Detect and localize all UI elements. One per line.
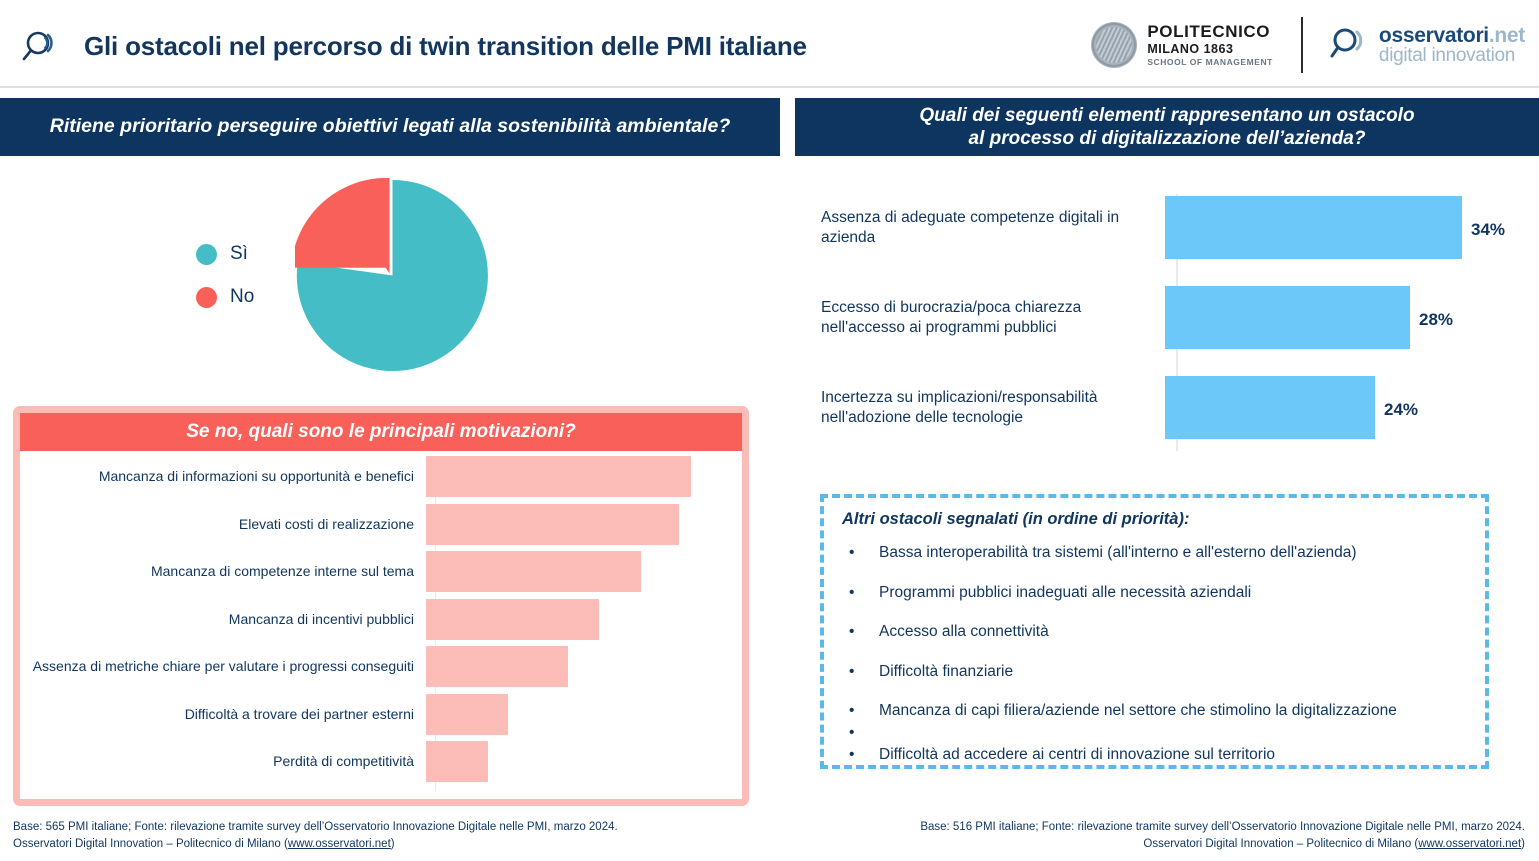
bullet-icon: • [842,584,879,603]
bullet-icon: • [842,724,879,743]
osservatori-tagline: digital innovation [1379,46,1525,65]
pie-chart [295,178,490,373]
pie-legend: Sì No [196,243,254,329]
motivations-track [426,548,742,596]
motivations-card: Se no, quali sono le principali motivazi… [13,406,749,806]
list-item: •Programmi pubblici inadeguati alle nece… [842,584,1471,603]
motivations-label: Mancanza di informazioni su opportunità … [20,468,426,485]
right-panel-heading: Quali dei seguenti elementi rappresentan… [795,98,1539,156]
legend-label-no: No [230,286,254,308]
motivations-track [426,691,742,739]
list-item: •Accesso alla connettività [842,623,1471,642]
obstacles-label: Eccesso di burocrazia/poca chiarezza nel… [795,298,1165,337]
obstacles-row: Eccesso di burocrazia/poca chiarezza nel… [795,280,1539,355]
list-item-text: Accesso alla connettività [879,623,1049,642]
list-item-text: Difficoltà finanziarie [879,663,1013,682]
motivations-track [426,501,742,549]
osservatori-link[interactable]: www.osservatori.net [288,838,391,850]
right-footer: Base: 516 PMI italiane; Fonte: rilevazio… [920,819,1525,854]
list-item-text: Bassa interoperabilità tra sistemi (all'… [879,544,1357,563]
right-panel-heading-line1: Quali dei seguenti elementi rappresentan… [919,104,1414,127]
motivations-bar [426,646,568,687]
obstacles-label: Assenza di adeguate competenze digitali … [795,208,1165,247]
motivations-row: Mancanza di competenze interne sul tema [20,548,742,596]
motivations-row: Perdità di competitività [20,738,742,786]
list-item-text: Mancanza di capi filiera/aziende nel set… [879,702,1397,721]
page-title: Gli ostacoli nel percorso di twin transi… [84,31,807,62]
bullet-icon: • [842,544,879,563]
legend-label-si: Sì [230,243,248,265]
obstacles-row: Assenza di adeguate competenze digitali … [795,190,1539,265]
list-item: •Difficoltà ad accedere ai centri di inn… [842,746,1471,765]
motivations-bar [426,694,508,735]
motivations-row: Difficoltà a trovare dei partner esterni [20,691,742,739]
bullet-icon: • [842,746,879,765]
motivations-bar [426,599,599,640]
magnifier-icon [18,25,62,69]
bullet-icon: • [842,663,879,682]
left-footer: Base: 565 PMI italiane; Fonte: rilevazio… [13,819,618,854]
other-obstacles-list: •Bassa interoperabilità tra sistemi (all… [842,544,1471,764]
obstacles-row: Incertezza su implicazioni/responsabilit… [795,370,1539,445]
pie-chart-section: Sì No 24% 76% [0,160,780,400]
left-footer-line2: Osservatori Digital Innovation – Politec… [13,836,618,853]
obstacles-value: 24% [1384,400,1418,420]
motivations-bar-chart: Mancanza di informazioni su opportunità … [20,451,742,799]
politecnico-city: MILANO 1863 [1147,43,1273,56]
obstacles-bar-chart: Assenza di adeguate competenze digitali … [795,190,1539,455]
motivations-label: Mancanza di incentivi pubblici [20,611,426,628]
obstacles-value: 34% [1471,220,1505,240]
motivations-track [426,643,742,691]
obstacles-track: 34% [1165,190,1539,265]
motivations-bar [426,741,488,782]
motivations-track [426,738,742,786]
osservatori-link[interactable]: www.osservatori.net [1418,838,1521,850]
motivations-row: Elevati costi di realizzazione [20,501,742,549]
legend-dot-no [196,287,217,308]
politecnico-name: POLITECNICO [1147,23,1273,41]
motivations-bar [426,551,641,592]
left-footer-line1: Base: 565 PMI italiane; Fonte: rilevazio… [13,819,618,836]
bullet-icon: • [842,623,879,642]
motivations-row: Mancanza di informazioni su opportunità … [20,453,742,501]
list-item: • [842,724,1471,743]
osservatori-logo: osservatori.net digital innovation [1303,25,1525,66]
motivations-track [426,596,742,644]
motivations-label: Mancanza di competenze interne sul tema [20,563,426,580]
obstacles-bar [1165,376,1375,439]
list-item-text: Programmi pubblici inadeguati alle neces… [879,584,1251,603]
obstacles-value: 28% [1419,310,1453,330]
pie-value-no: 24% [329,385,364,406]
motivations-label: Assenza di metriche chiare per valutare … [20,658,426,675]
motivations-card-heading: Se no, quali sono le principali motivazi… [20,413,742,451]
politecnico-seal-icon [1091,22,1137,68]
bullet-icon: • [842,702,879,721]
motivations-row: Mancanza di incentivi pubblici [20,596,742,644]
motivations-label: Perdità di competitività [20,753,426,770]
obstacles-bar [1165,196,1462,259]
list-item-text: Difficoltà ad accedere ai centri di inno… [879,746,1275,765]
right-panel-heading-line2: al processo di digitalizzazione dell’azi… [919,127,1414,150]
motivations-label: Difficoltà a trovare dei partner esterni [20,706,426,723]
obstacles-label: Incertezza su implicazioni/responsabilit… [795,388,1165,427]
obstacles-track: 28% [1165,280,1539,355]
right-footer-line2: Osservatori Digital Innovation – Politec… [920,836,1525,853]
politecnico-logo: POLITECNICO MILANO 1863 SCHOOL OF MANAGE… [1091,22,1301,68]
motivations-row: Assenza di metriche chiare per valutare … [20,643,742,691]
legend-item-si: Sì [196,243,254,265]
motivations-track [426,453,742,501]
list-item: •Difficoltà finanziarie [842,663,1471,682]
osservatori-magnifier-icon [1329,25,1371,66]
left-panel-heading: Ritiene prioritario perseguire obiettivi… [0,98,780,156]
osservatori-wordmark: osservatori.net [1379,25,1525,46]
politecnico-school: SCHOOL OF MANAGEMENT [1147,58,1273,67]
obstacles-bar [1165,286,1410,349]
other-obstacles-title: Altri ostacoli segnalati (in ordine di p… [842,510,1189,529]
logo-group: POLITECNICO MILANO 1863 SCHOOL OF MANAGE… [1091,14,1525,76]
top-header: Gli ostacoli nel percorso di twin transi… [0,0,1539,88]
legend-item-no: No [196,286,254,308]
right-footer-line1: Base: 516 PMI italiane; Fonte: rilevazio… [920,819,1525,836]
motivations-bar [426,504,679,545]
list-item: •Bassa interoperabilità tra sistemi (all… [842,544,1471,563]
list-item: •Mancanza di capi filiera/aziende nel se… [842,702,1471,721]
legend-dot-si [196,244,217,265]
motivations-label: Elevati costi di realizzazione [20,516,426,533]
motivations-bar [426,456,691,497]
other-obstacles-box: Altri ostacoli segnalati (in ordine di p… [820,494,1489,769]
obstacles-track: 24% [1165,370,1539,445]
